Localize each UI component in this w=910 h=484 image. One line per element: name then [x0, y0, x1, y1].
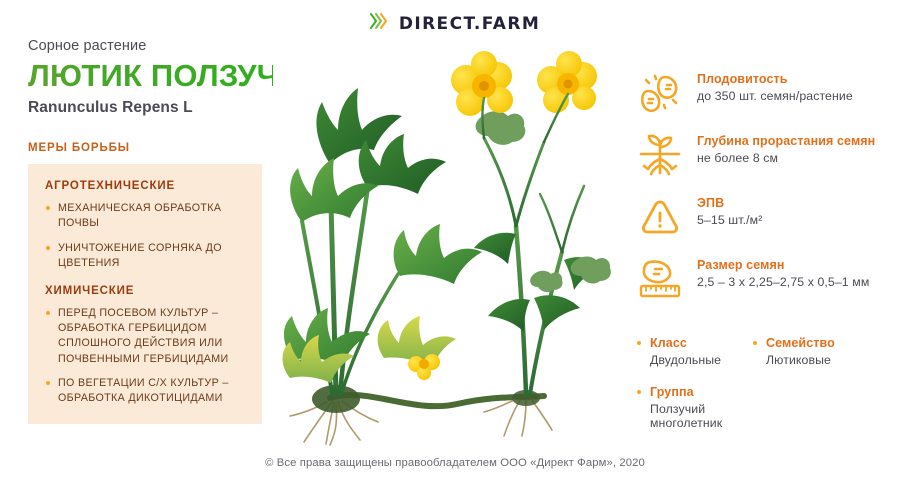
fact-row-seed-size: Размер семян 2,5 – 3 х 2,25–2,75 х 0,5–1… [637, 256, 899, 302]
left-column: Сорное растение ЛЮТИК ПОЛЗУЧИЙ Ranunculu… [28, 38, 273, 424]
warning-triangle-icon [637, 194, 683, 240]
fact-text: Размер семян 2,5 – 3 х 2,25–2,75 х 0,5–1… [697, 256, 869, 291]
chevron-wave-logo-icon [370, 12, 390, 35]
taxonomy-item-family: Семейство Лютиковые [753, 336, 907, 367]
taxonomy-value: Лютиковые [766, 353, 907, 367]
footer-copyright: © Все права защищены правообладателем ОО… [0, 457, 910, 469]
brand-bar: DIRECT.FARM [0, 12, 910, 35]
latin-name: Ranunculus Repens L [28, 99, 273, 117]
infographic-card: DIRECT.FARM Сорное растение ЛЮТИК ПОЛЗУЧ… [0, 0, 910, 484]
measures-group-heading-agro: АГРОТЕХНИЧЕСКИЕ [45, 180, 246, 192]
taxonomy-item-group: Группа Ползучий многолетник [637, 385, 753, 430]
list-item: МЕХАНИЧЕСКАЯ ОБРАБОТКА ПОЧВЫ [45, 201, 246, 231]
fact-label: Плодовитость [697, 72, 853, 87]
taxonomy-value: Ползучий многолетник [650, 402, 753, 430]
fact-text: Плодовитость до 350 шт. семян/растение [697, 70, 853, 105]
brand-name: DIRECT.FARM [399, 14, 540, 34]
taxonomy-label: Семейство [766, 336, 907, 350]
fact-text: Глубина прорастания семян не более 8 см [697, 132, 875, 167]
eyebrow-label: Сорное растение [28, 38, 273, 54]
fact-label: ЭПВ [697, 196, 762, 211]
fact-text: ЭПВ 5–15 шт./м² [697, 194, 762, 229]
measures-heading: МЕРЫ БОРЬБЫ [28, 142, 273, 154]
list-item: УНИЧТОЖЕНИЕ СОРНЯКА ДО ЦВЕТЕНИЯ [45, 241, 246, 271]
fact-row-epv: ЭПВ 5–15 шт./м² [637, 194, 899, 240]
measures-list-chem: ПЕРЕД ПОСЕВОМ КУЛЬТУР – ОБРАБОТКА ГЕРБИЦ… [45, 306, 246, 406]
fact-row-fecundity: Плодовитость до 350 шт. семян/растение [637, 70, 899, 116]
taxonomy-label: Класс [650, 336, 753, 350]
measures-list-agro: МЕХАНИЧЕСКАЯ ОБРАБОТКА ПОЧВЫ УНИЧТОЖЕНИЕ… [45, 201, 246, 271]
taxonomy-item-class: Класс Двудольные [637, 336, 753, 367]
taxonomy-value: Двудольные [650, 353, 753, 367]
fact-value: не более 8 см [697, 151, 875, 167]
fact-value: 5–15 шт./м² [697, 213, 762, 229]
fact-value: 2,5 – 3 х 2,25–2,75 х 0,5–1 мм [697, 275, 869, 291]
fact-label: Глубина прорастания семян [697, 134, 875, 149]
fact-label: Размер семян [697, 258, 869, 273]
seeds-icon [637, 70, 683, 116]
measures-group-heading-chem: ХИМИЧЕСКИЕ [45, 285, 246, 297]
taxonomy-panel: Класс Двудольные Семейство Лютиковые Гру… [637, 336, 907, 430]
list-item: ПЕРЕД ПОСЕВОМ КУЛЬТУР – ОБРАБОТКА ГЕРБИЦ… [45, 306, 246, 367]
facts-panel: Плодовитость до 350 шт. семян/растение [637, 70, 899, 318]
fact-row-germination-depth: Глубина прорастания семян не более 8 см [637, 132, 899, 178]
plant-illustration [272, 46, 624, 446]
seed-ruler-icon [637, 256, 683, 302]
taxonomy-label: Группа [650, 385, 753, 399]
list-item: ПО ВЕГЕТАЦИИ С/Х КУЛЬТУР – ОБРАБОТКА ДИК… [45, 376, 246, 406]
sprout-roots-icon [637, 132, 683, 178]
measures-box: АГРОТЕХНИЧЕСКИЕ МЕХАНИЧЕСКАЯ ОБРАБОТКА П… [28, 164, 262, 424]
page-title: ЛЮТИК ПОЛЗУЧИЙ [28, 60, 273, 92]
fact-value: до 350 шт. семян/растение [697, 89, 853, 105]
